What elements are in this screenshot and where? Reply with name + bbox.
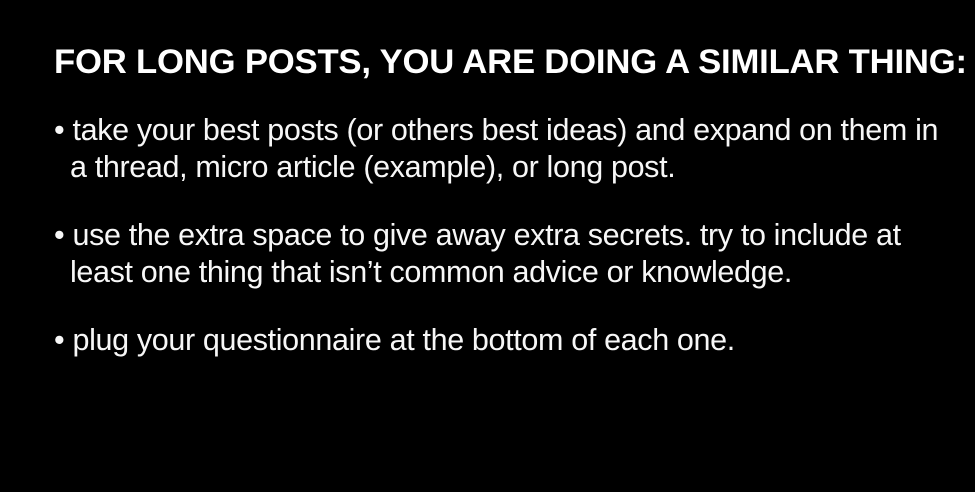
list-item: • take your best posts (or others best i…: [54, 112, 945, 186]
list-item: • plug your questionnaire at the bottom …: [54, 322, 945, 359]
list-item: • use the extra space to give away extra…: [54, 217, 945, 291]
page-title: FOR LONG POSTS, YOU ARE DOING A SIMILAR …: [54, 42, 963, 82]
slide-canvas: FOR LONG POSTS, YOU ARE DOING A SIMILAR …: [0, 0, 975, 492]
bullet-list: • take your best posts (or others best i…: [54, 112, 945, 359]
slide-content: FOR LONG POSTS, YOU ARE DOING A SIMILAR …: [54, 42, 945, 359]
